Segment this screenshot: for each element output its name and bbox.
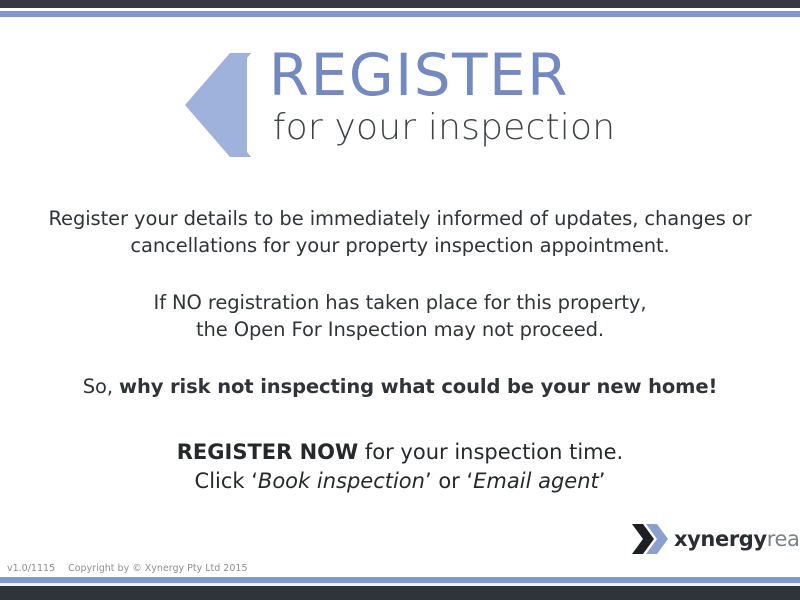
cta-email-agent-label[interactable]: Email agent xyxy=(473,469,599,493)
bottom-dark-bar xyxy=(0,586,800,600)
cta-line-2-middle: ’ or ‘ xyxy=(425,469,473,493)
body-copy: Register your details to be immediately … xyxy=(0,205,800,400)
cta-book-inspection-label[interactable]: Book inspection xyxy=(258,469,425,493)
footer-legal: v1.0/1115Copyright by © Xynergy Pty Ltd … xyxy=(7,563,248,574)
paragraph-prompt-emphasis: why risk not inspecting what could be yo… xyxy=(119,375,717,398)
register-inspection-page: REGISTER for your inspection Register yo… xyxy=(0,0,800,600)
footer-version: v1.0/1115 xyxy=(7,563,55,574)
cta-line-1-rest: for your inspection time. xyxy=(365,440,623,464)
page-title: REGISTER xyxy=(269,45,615,105)
cta-line-2-suffix: ’ xyxy=(599,469,606,493)
footer-brand-lockup: xynergyrealty xyxy=(632,524,800,554)
paragraph-intro-text: Register your details to be immediately … xyxy=(48,207,751,257)
header-text-block: REGISTER for your inspection xyxy=(269,45,615,149)
paragraph-prompt: So, why risk not inspecting what could b… xyxy=(0,373,800,400)
paragraph-warning-line-2: the Open For Inspection may not proceed. xyxy=(196,318,604,341)
paragraph-warning: If NO registration has taken place for t… xyxy=(0,289,800,343)
paragraph-warning-line-1: If NO registration has taken place for t… xyxy=(154,291,647,314)
paragraph-intro: Register your details to be immediately … xyxy=(0,205,800,259)
footer-copyright: Copyright by © Xynergy Pty Ltd 2015 xyxy=(68,563,247,574)
page-header: REGISTER for your inspection xyxy=(0,45,800,170)
footer-brand-suffix: realty xyxy=(767,527,800,551)
cta-line-1: REGISTER NOW for your inspection time. xyxy=(0,438,800,467)
cta-line-2-prefix: Click ‘ xyxy=(195,469,258,493)
call-to-action: REGISTER NOW for your inspection time. C… xyxy=(0,438,800,496)
cta-register-now-label: REGISTER NOW xyxy=(177,440,358,464)
top-dark-bar xyxy=(0,0,800,8)
top-accent-bar xyxy=(0,11,800,17)
chevron-left-icon xyxy=(185,53,251,157)
footer-brand-name: xynergy xyxy=(674,527,767,551)
footer-brand-text: xynergyrealty xyxy=(674,529,800,550)
cta-line-2: Click ‘Book inspection’ or ‘Email agent’ xyxy=(0,467,800,496)
header-lockup: REGISTER for your inspection xyxy=(185,45,615,157)
page-subtitle: for your inspection xyxy=(273,107,615,149)
paragraph-prompt-prefix: So, xyxy=(83,375,113,398)
xynergy-x-icon xyxy=(632,524,668,554)
